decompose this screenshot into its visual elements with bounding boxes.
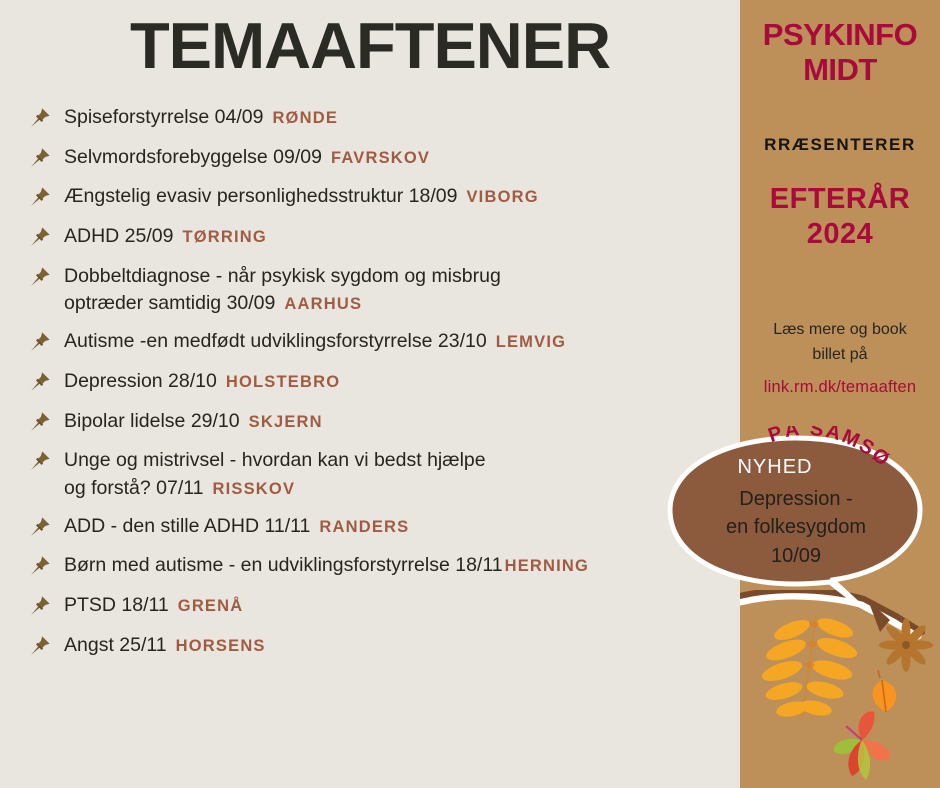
event-title: Spiseforstyrrelse 04/09 (64, 106, 263, 128)
event-city: VIBORG (466, 188, 538, 206)
season-title: EFTERÅR 2024 (740, 182, 940, 252)
bubble-line-3: 10/09 (684, 542, 908, 570)
maple-leaf-icon (834, 711, 890, 780)
event-city: SKJERN (249, 413, 323, 431)
list-item[interactable]: Ængstelig evasiv personlighedsstruktur 1… (24, 183, 740, 211)
pushpin-icon (28, 330, 52, 354)
list-item[interactable]: Børn med autisme - en udviklingsforstyrr… (24, 552, 740, 580)
event-title: ADHD 25/09 (64, 225, 173, 247)
event-city: TØRRING (182, 228, 266, 246)
nyhed-badge: NYHED (684, 456, 866, 479)
brand-line1: PSYKINFO (763, 17, 917, 52)
list-item[interactable]: Dobbeltdiagnose - når psykisk sygdom og … (24, 263, 740, 318)
event-list: Spiseforstyrrelse 04/09RØNDE Selvmordsfo… (24, 104, 740, 671)
sidebar-panel: PSYKINFO MIDT RRÆSENTERER EFTERÅR 2024 L… (740, 0, 940, 788)
event-city: HERNING (505, 557, 590, 575)
list-item[interactable]: Unge og mistrivsel - hvordan kan vi beds… (24, 447, 740, 502)
event-city: HORSENS (176, 637, 266, 655)
bubble-line-2: en folkesygdom (684, 513, 908, 541)
event-title: PTSD 18/11 (64, 594, 169, 616)
brand-title: PSYKINFO MIDT (740, 18, 940, 87)
year-label: 2024 (740, 217, 940, 252)
event-title: ADD - den stille ADHD 11/11 (64, 515, 310, 537)
event-title: Depression 28/10 (64, 370, 217, 392)
event-city: LEMVIG (496, 333, 566, 351)
bubble-text-block: NYHED Depression - en folkesygdom 10/09 (684, 456, 908, 570)
booking-link[interactable]: link.rm.dk/temaaften (740, 378, 940, 397)
booking-info-line1: Læs mere og book (744, 318, 936, 343)
season-label: EFTERÅR (770, 183, 910, 215)
event-title: Angst 25/11 (64, 634, 167, 656)
list-item[interactable]: PTSD 18/11GRENÅ (24, 592, 740, 620)
list-item[interactable]: Bipolar lidelse 29/10SKJERN (24, 408, 740, 436)
booking-info-line2: billet på (744, 343, 936, 368)
page-title: TEMAAFTENER (0, 8, 740, 83)
event-title: Bipolar lidelse 29/10 (64, 410, 240, 432)
pushpin-icon (28, 410, 52, 434)
event-city: GRENÅ (178, 597, 244, 615)
list-item[interactable]: Depression 28/10HOLSTEBRO (24, 368, 740, 396)
leaves-svg (740, 590, 940, 788)
pushpin-icon (28, 225, 52, 249)
booking-info: Læs mere og book billet på (744, 318, 936, 368)
news-speech-bubble[interactable]: NYHED Depression - en folkesygdom 10/09 … (662, 432, 930, 610)
event-city: AARHUS (284, 295, 362, 313)
event-title: Autisme -en medfødt udviklingsforstyrrel… (64, 330, 487, 352)
list-item[interactable]: ADHD 25/09TØRRING (24, 223, 740, 251)
event-title: Dobbeltdiagnose - når psykisk sygdom og … (64, 265, 501, 315)
event-city: RANDERS (319, 518, 409, 536)
bubble-line-1: Depression - (684, 485, 908, 513)
brand-line2: MIDT (740, 53, 940, 88)
event-title: Børn med autisme - en udviklingsforstyrr… (64, 554, 503, 576)
pushpin-icon (28, 265, 52, 289)
pushpin-icon (28, 370, 52, 394)
event-city: HOLSTEBRO (226, 373, 340, 391)
list-item[interactable]: Selvmordsforebyggelse 09/09FAVRSKOV (24, 144, 740, 172)
pushpin-icon (28, 634, 52, 658)
autumn-leaves-decoration (740, 590, 940, 788)
list-item[interactable]: ADD - den stille ADHD 11/11RANDERS (24, 513, 740, 541)
pushpin-icon (28, 554, 52, 578)
pushpin-icon (28, 594, 52, 618)
star-anise-icon (879, 618, 933, 672)
pushpin-icon (28, 146, 52, 170)
event-title: Ængstelig evasiv personlighedsstruktur 1… (64, 185, 457, 207)
event-city: RØNDE (272, 109, 338, 127)
small-leaf-icon (873, 670, 897, 712)
poster-canvas: PSYKINFO MIDT RRÆSENTERER EFTERÅR 2024 L… (0, 0, 940, 788)
pushpin-icon (28, 106, 52, 130)
rowan-leaf-icon (760, 614, 860, 719)
pushpin-icon (28, 185, 52, 209)
list-item[interactable]: Angst 25/11HORSENS (24, 632, 740, 660)
list-item[interactable]: Spiseforstyrrelse 04/09RØNDE (24, 104, 740, 132)
pushpin-icon (28, 449, 52, 473)
list-item[interactable]: Autisme -en medfødt udviklingsforstyrrel… (24, 328, 740, 356)
pushpin-icon (28, 515, 52, 539)
event-city: RISSKOV (213, 480, 296, 498)
event-city: FAVRSKOV (331, 149, 430, 167)
event-title: Selvmordsforebyggelse 09/09 (64, 146, 322, 168)
presents-label: RRÆSENTERER (740, 135, 940, 155)
